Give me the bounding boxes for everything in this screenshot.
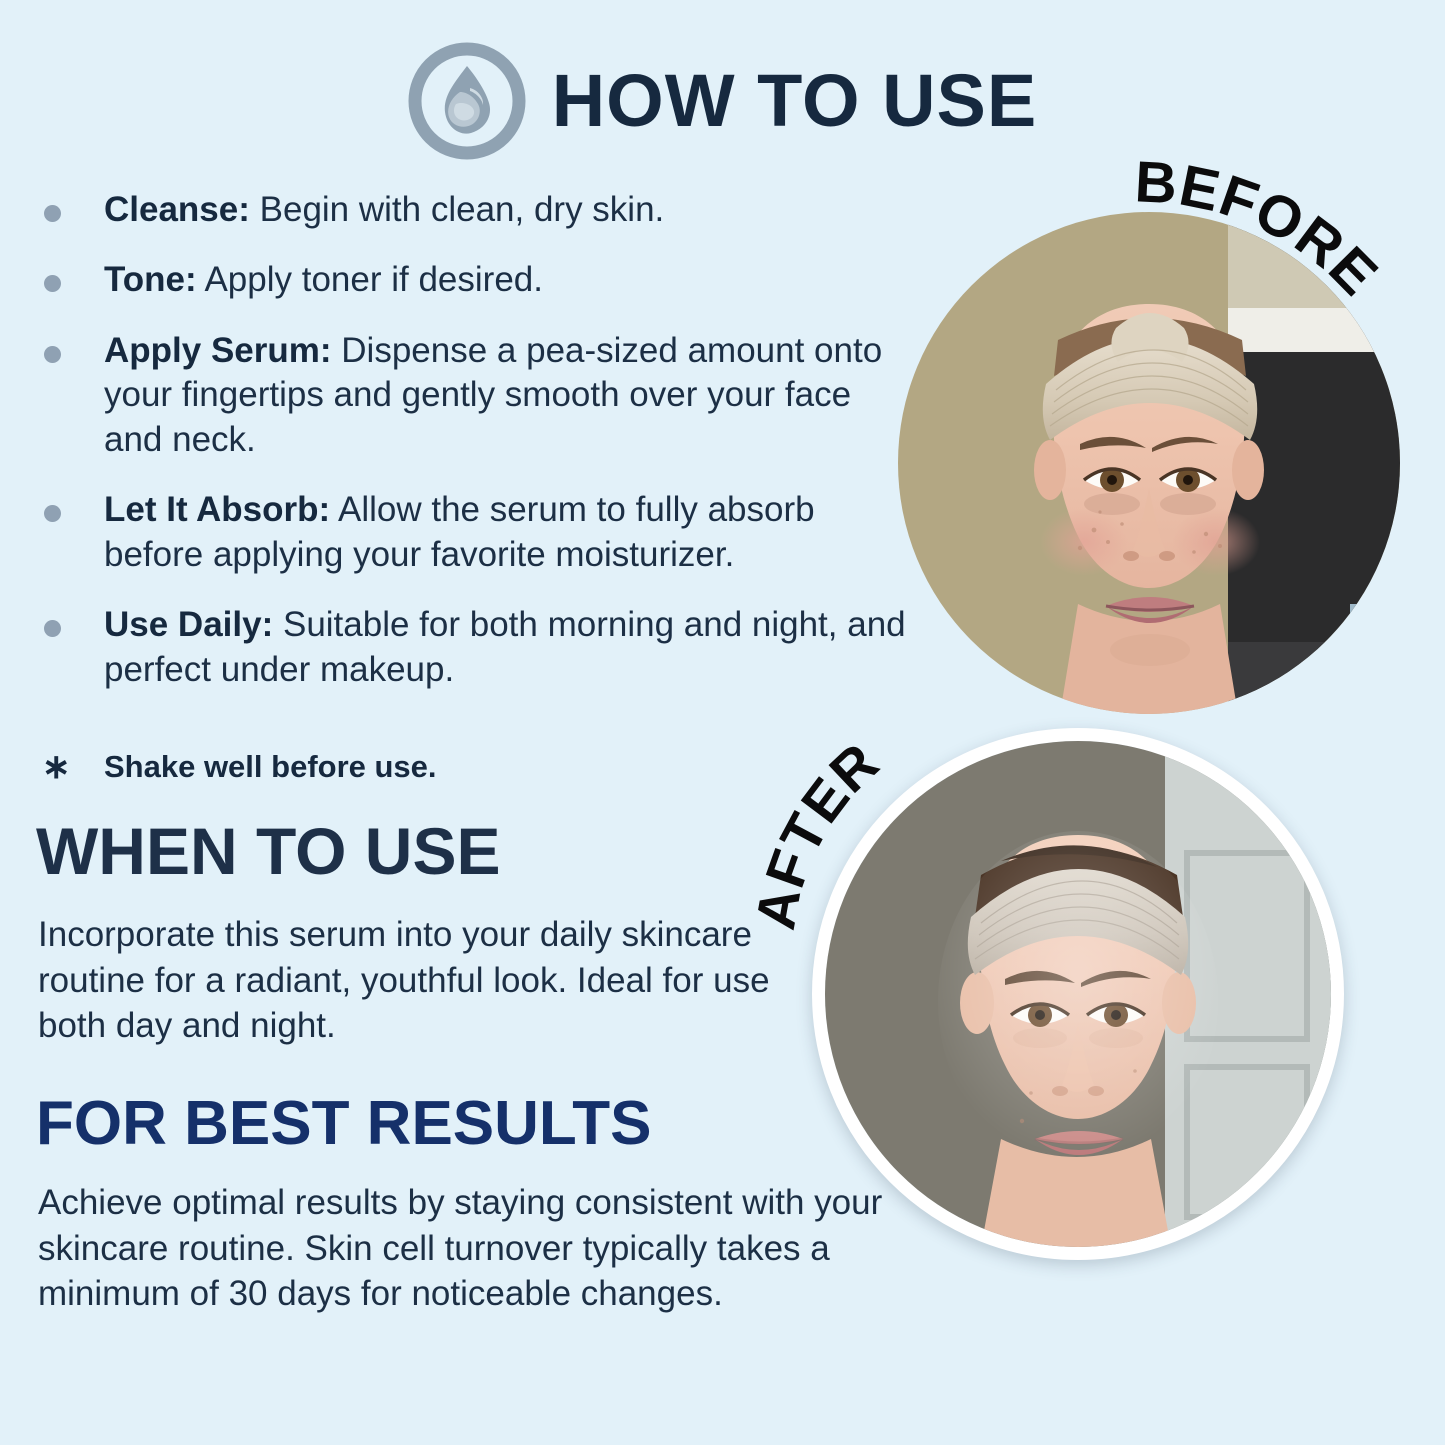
step-label: Apply Serum: — [104, 331, 332, 370]
brand-droplet-logo — [408, 42, 526, 160]
list-item: Use Daily: Suitable for both morning and… — [32, 603, 912, 692]
before-photo — [898, 212, 1400, 714]
page-title: HOW TO USE — [552, 64, 1038, 138]
note-text: Shake well before use. — [104, 749, 437, 784]
list-item: Let It Absorb: Allow the serum to fully … — [32, 488, 912, 577]
how-to-use-steps: Cleanse: Begin with clean, dry skin. Ton… — [32, 188, 912, 718]
step-label: Cleanse: — [104, 190, 250, 229]
step-text: Begin with clean, dry skin. — [250, 190, 664, 229]
asterisk-icon: ∗ — [42, 750, 71, 784]
when-to-use-heading: WHEN TO USE — [36, 818, 500, 884]
list-item: Cleanse: Begin with clean, dry skin. — [32, 188, 912, 232]
list-item: Apply Serum: Dispense a pea-sized amount… — [32, 329, 912, 462]
step-text: Apply toner if desired. — [197, 260, 543, 299]
shake-well-note: ∗ Shake well before use. — [32, 748, 924, 785]
bullet-dot-icon — [44, 346, 61, 363]
for-best-results-body: Achieve optimal results by staying consi… — [38, 1180, 918, 1317]
after-photo — [812, 728, 1344, 1260]
header: HOW TO USE — [0, 42, 1445, 160]
bullet-dot-icon — [44, 205, 61, 222]
bullet-dot-icon — [44, 275, 61, 292]
step-label: Tone: — [104, 260, 197, 299]
step-label: Let It Absorb: — [104, 490, 330, 529]
list-item: Tone: Apply toner if desired. — [32, 258, 912, 302]
bullet-dot-icon — [44, 505, 61, 522]
infographic-page: HOW TO USE Cleanse: Begin with clean, dr… — [0, 0, 1445, 1445]
bullet-dot-icon — [44, 620, 61, 637]
step-label: Use Daily: — [104, 605, 273, 644]
when-to-use-body: Incorporate this serum into your daily s… — [38, 912, 778, 1049]
for-best-results-heading: FOR BEST RESULTS — [36, 1093, 651, 1155]
